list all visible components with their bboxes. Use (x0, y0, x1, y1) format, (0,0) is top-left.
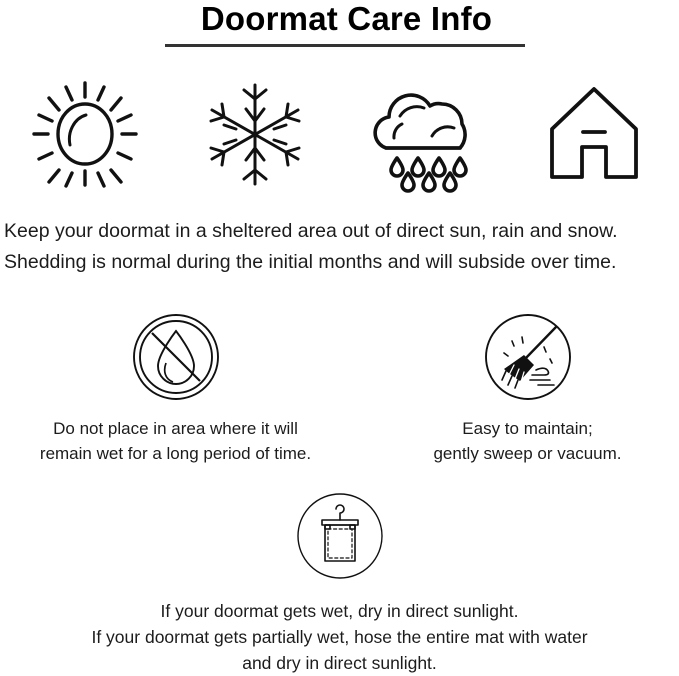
no-water-line-1: Do not place in area where it will (40, 416, 311, 441)
snowflake-icon-cell (190, 72, 320, 197)
care-item-sweep-caption: Easy to maintain; gently sweep or vacuum… (433, 416, 621, 466)
sweep-line-2: gently sweep or vacuum. (433, 441, 621, 466)
house-icon (538, 79, 650, 191)
page-title: Doormat Care Info (0, 0, 679, 36)
drying-section: If your doormat gets wet, dry in direct … (0, 490, 679, 676)
title-underline-rule (165, 44, 525, 47)
rain-cloud-icon (364, 76, 484, 194)
intro-line-2: Shedding is normal during the initial mo… (4, 247, 675, 278)
care-items-row: Do not place in area where it will remai… (0, 312, 679, 466)
care-item-no-water: Do not place in area where it will remai… (0, 312, 339, 466)
care-item-no-water-caption: Do not place in area where it will remai… (40, 416, 311, 466)
hang-dry-icon (294, 490, 386, 582)
rain-cloud-icon-cell (359, 72, 489, 197)
weather-icon-row (0, 72, 679, 197)
intro-line-1: Keep your doormat in a sheltered area ou… (4, 216, 675, 247)
drying-line-2: If your doormat gets partially wet, hose… (91, 624, 587, 650)
sweep-line-1: Easy to maintain; (433, 416, 621, 441)
intro-paragraph: Keep your doormat in a sheltered area ou… (0, 216, 679, 278)
care-item-sweep: Easy to maintain; gently sweep or vacuum… (339, 312, 678, 466)
snowflake-icon (200, 77, 310, 192)
broom-sweep-icon (483, 312, 573, 402)
drying-line-1: If your doormat gets wet, dry in direct … (91, 598, 587, 624)
doormat-care-info-page: Doormat Care Info (0, 0, 679, 655)
sun-icon-cell (20, 72, 150, 197)
drying-caption: If your doormat gets wet, dry in direct … (91, 598, 587, 676)
sun-icon (30, 77, 140, 192)
no-water-line-2: remain wet for a long period of time. (40, 441, 311, 466)
house-icon-cell (529, 72, 659, 197)
no-water-icon (131, 312, 221, 402)
drying-line-3: and dry in direct sunlight. (91, 650, 587, 676)
header: Doormat Care Info (0, 0, 679, 47)
